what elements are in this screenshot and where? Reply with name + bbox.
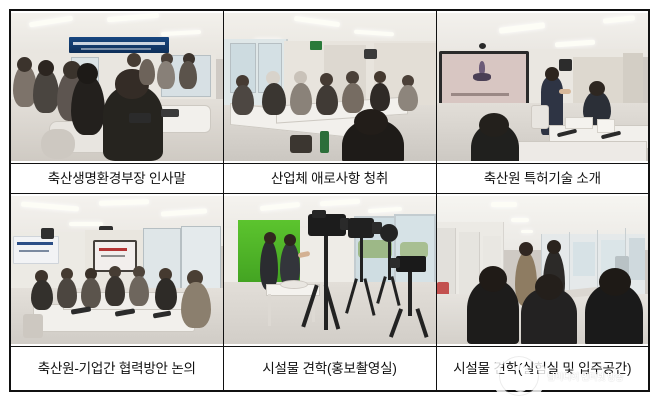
caption-text-5: 시설물 견학(홍보촬영실) <box>224 359 436 378</box>
photo-cell-2 <box>223 10 436 164</box>
photo-row-1 <box>10 10 649 164</box>
photo-cell-6 <box>436 194 649 347</box>
caption-cell-3: 축산원 특허기술 소개 <box>436 164 649 194</box>
photo-meeting-room-listening <box>224 13 436 161</box>
photo-meeting-room-discussion <box>11 196 223 344</box>
caption-cell-5: 시설물 견학(홍보촬영실) <box>223 347 436 392</box>
caption-row-1: 축산생명환경부장 인사말 산업체 애로사항 청취 축산원 특허기술 소개 <box>10 164 649 194</box>
photo-presentation-display <box>437 13 649 161</box>
photo-corridor-tour <box>437 196 649 344</box>
photo-meeting-room-banner <box>11 13 223 161</box>
caption-cell-1: 축산생명환경부장 인사말 <box>10 164 223 194</box>
caption-text-6: 시설물 견학(실험실 및 입주공간) <box>437 359 649 378</box>
page-root: 축산생명환경부장 인사말 산업체 애로사항 청취 축산원 특허기술 소개 <box>0 0 659 401</box>
caption-text-4: 축산원-기업간 협력방안 논의 <box>11 359 223 378</box>
photo-grid-table: 축산생명환경부장 인사말 산업체 애로사항 청취 축산원 특허기술 소개 <box>9 9 650 392</box>
caption-row-2: 축산원-기업간 협력방안 논의 시설물 견학(홍보촬영실) 시설물 견학(실험실… <box>10 347 649 392</box>
photo-row-2 <box>10 194 649 347</box>
caption-cell-2: 산업체 애로사항 청취 <box>223 164 436 194</box>
photo-cell-1 <box>10 10 223 164</box>
photo-cell-4 <box>10 194 223 347</box>
photo-cell-5 <box>223 194 436 347</box>
caption-text-1: 축산생명환경부장 인사말 <box>11 169 223 188</box>
caption-text-3: 축산원 특허기술 소개 <box>437 169 649 188</box>
caption-text-2: 산업체 애로사항 청취 <box>224 169 436 188</box>
caption-cell-6: 시설물 견학(실험실 및 입주공간) <box>436 347 649 392</box>
photo-cell-3 <box>436 10 649 164</box>
caption-cell-4: 축산원-기업간 협력방안 논의 <box>10 347 223 392</box>
photo-studio-greenscreen <box>224 196 436 344</box>
